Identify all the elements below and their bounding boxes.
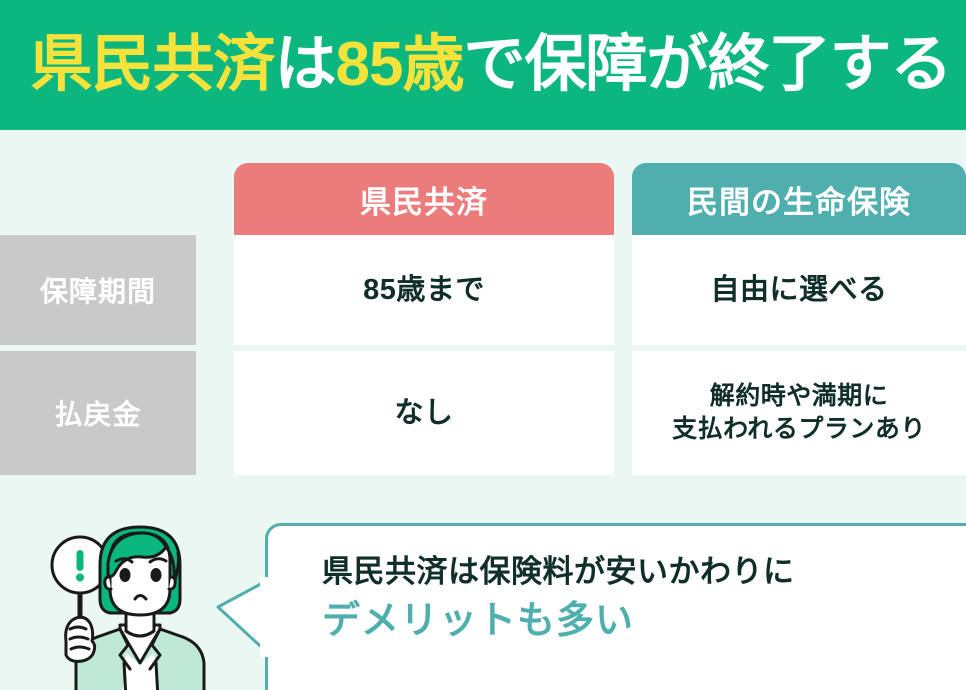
table-header-gap-mid <box>614 163 632 235</box>
table-header-corner <box>0 163 196 235</box>
title-part-age: 85歳 <box>336 30 464 99</box>
table-top-spacer <box>0 130 966 163</box>
table-row: 払戻金 なし 解約時や満期に 支払われるプランあり <box>0 351 966 475</box>
table-header-gap-left <box>196 163 234 235</box>
row-gap-mid-2 <box>614 351 632 475</box>
cell-line-1: 解約時や満期に <box>672 380 926 413</box>
row-label-haraimodoshikin: 払戻金 <box>0 351 196 475</box>
callout-section: 県民共済は保険料が安いかわりに デメリットも多い <box>0 505 966 690</box>
comparison-table: 県民共済 民間の生命保険 保障期間 85歳まで 自由に選べる 払戻金 なし 解約… <box>0 130 966 505</box>
callout-line-2: デメリットも多い <box>322 598 962 646</box>
column-header-minkan-seimei-hoken: 民間の生命保険 <box>632 163 966 235</box>
title-part-particle: は <box>275 30 336 99</box>
exclamation-icon <box>76 550 84 582</box>
cell-kenmin-hosho-kikan: 85歳まで <box>234 235 614 345</box>
title-banner: 県民共済は85歳で保障が終了する <box>0 0 966 130</box>
table-header-row: 県民共済 民間の生命保険 <box>0 163 966 235</box>
worried-woman-illustration <box>8 513 308 690</box>
cell-minkan-haraimodoshikin: 解約時や満期に 支払われるプランあり <box>632 351 966 475</box>
cell-kenmin-haraimodoshikin: なし <box>234 351 614 475</box>
row-label-hosho-kikan: 保障期間 <box>0 235 196 345</box>
callout-text: 県民共済は保険料が安いかわりに デメリットも多い <box>322 553 962 645</box>
column-header-kenmin-kyosai: 県民共済 <box>234 163 614 235</box>
title-part-suffix: で保障が終了する <box>463 30 951 99</box>
cell-line-2: 支払われるプランあり <box>672 413 926 446</box>
infographic-root: 県民共済は85歳で保障が終了する 県民共済 民間の生命保険 保障期間 85歳まで… <box>0 0 966 690</box>
table-row: 保障期間 85歳まで 自由に選べる <box>0 235 966 345</box>
callout-line-1: 県民共済は保険料が安いかわりに <box>322 553 962 592</box>
row-gap-mid-1 <box>614 235 632 345</box>
row-gap-left-1 <box>196 235 234 345</box>
page-title: 県民共済は85歳で保障が終了する <box>30 34 951 96</box>
cell-minkan-hosho-kikan: 自由に選べる <box>632 235 966 345</box>
title-part-brand: 県民共済 <box>30 30 274 99</box>
row-gap-left-2 <box>196 351 234 475</box>
